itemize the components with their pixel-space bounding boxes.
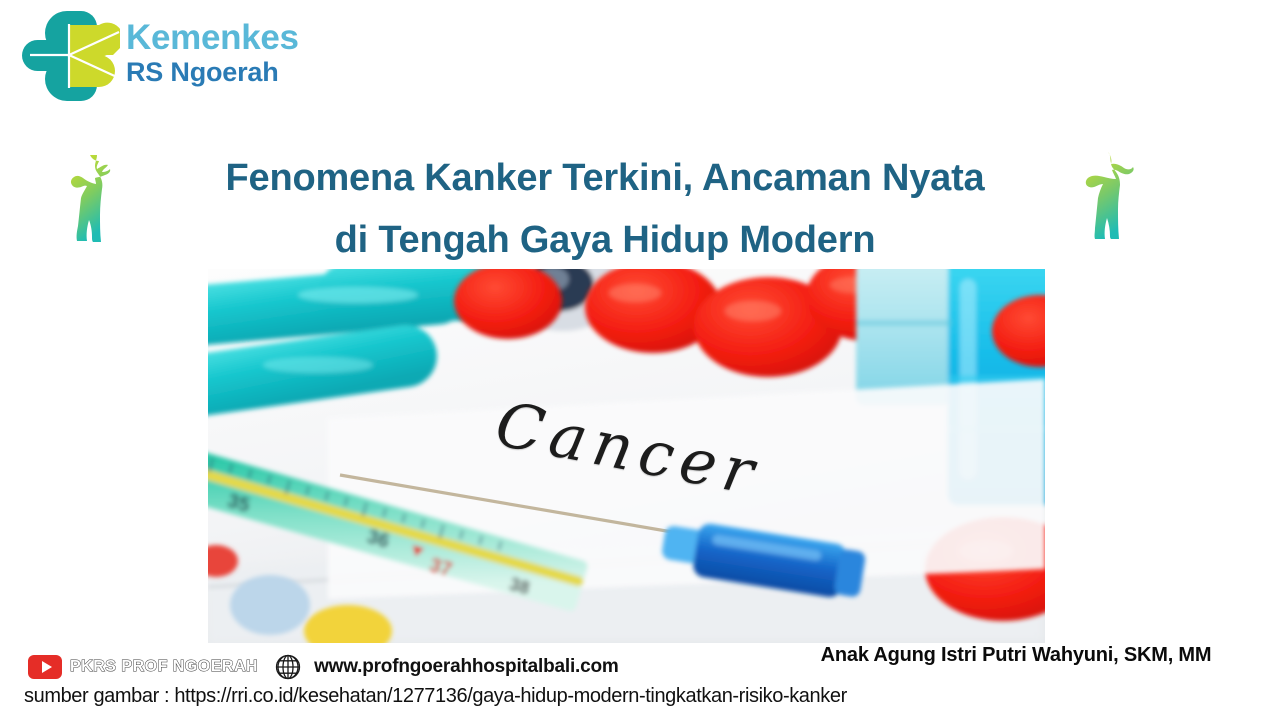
logo-line-rs-ngoerah: RS Ngoerah (126, 59, 299, 86)
cancer-illustration-photo: 35 36 37 38 Cancer (208, 269, 1045, 643)
logo-line-kemenkes: Kemenkes (126, 20, 299, 55)
title-line-1: Fenomena Kanker Terkini, Ancaman Nyata (226, 157, 985, 199)
youtube-channel-label: PKRS PROF NGOERAH (70, 658, 258, 676)
kemenkes-logo-block: Kemenkes RS Ngoerah (14, 6, 334, 104)
website-url[interactable]: www.profngoerahhospitalbali.com (314, 656, 619, 678)
footer-links-row: PKRS PROF NGOERAH www.profngoerahhospita… (28, 653, 619, 681)
title-line-2: di Tengah Gaya Hidup Modern (335, 219, 876, 261)
page-title: Fenomena Kanker Terkini, Ancaman Nyata d… (130, 148, 1080, 271)
kemenkes-wordmark: Kemenkes RS Ngoerah (126, 20, 299, 86)
slide-title-area: Fenomena Kanker Terkini, Ancaman Nyata d… (0, 148, 1279, 273)
globe-icon (274, 653, 302, 681)
image-source-label: sumber gambar : https://rri.co.id/keseha… (24, 685, 847, 708)
youtube-icon[interactable] (28, 655, 62, 679)
kemenkes-flower-logo-icon (22, 10, 120, 102)
author-name: Anak Agung Istri Putri Wahyuni, SKM, MM (770, 644, 1262, 667)
